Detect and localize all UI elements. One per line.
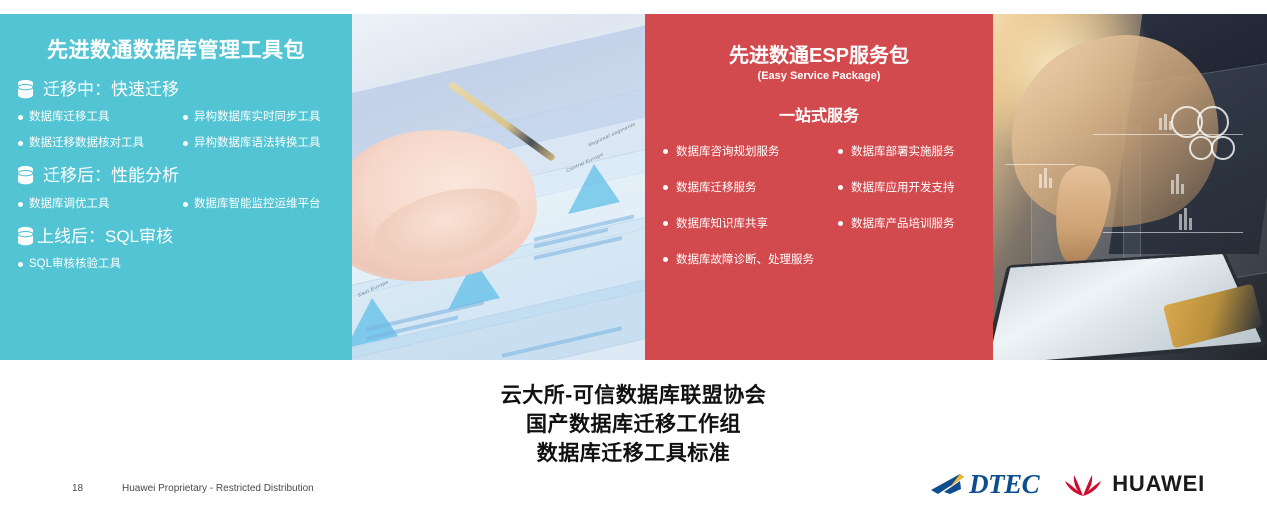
list-item: 数据迁移数据核对工具 — [18, 136, 183, 151]
confidentiality-note: Huawei Proprietary - Restricted Distribu… — [122, 483, 314, 494]
bullet-dot-icon — [183, 115, 188, 120]
list-item: 数据库迁移工具 — [18, 110, 183, 125]
list-item-label: 数据库咨询规划服务 — [676, 143, 780, 159]
left-bullet-grid-1: 数据库迁移工具 异构数据库实时同步工具 数据迁移数据核对工具 异构数据库语法转换… — [18, 110, 340, 151]
dtec-logo-text: DTEC — [969, 471, 1039, 498]
headline-line-3: 数据库迁移工具标准 — [0, 440, 1267, 469]
headline-line-2: 国产数据库迁移工作组 — [0, 411, 1267, 440]
list-item-label: 数据库知识库共享 — [676, 215, 768, 231]
middle-photo-analytics: Regional segments Central Europe West Eu… — [352, 14, 645, 360]
bullet-dot-icon — [838, 221, 843, 226]
list-item: 异构数据库实时同步工具 — [183, 110, 340, 125]
footer-logos: DTEC HUAWEI — [930, 470, 1205, 498]
database-icon — [16, 165, 35, 186]
photo-hud-line — [1005, 164, 1075, 165]
left-section-heading-3: 上线后：SQL审核 — [16, 226, 340, 247]
bullet-dot-icon — [18, 262, 23, 267]
photo-hud-bar — [1189, 218, 1192, 230]
photo-hud-bar — [1184, 208, 1187, 230]
photo-hud-bar — [1171, 180, 1174, 194]
right-photo-tablet — [993, 14, 1267, 360]
huawei-logo: HUAWEI — [1063, 470, 1205, 498]
left-bullet-grid-3: SQL审核核验工具 — [18, 257, 340, 272]
list-item-label: 数据迁移数据核对工具 — [29, 136, 144, 151]
headline-line-1: 云大所-可信数据库联盟协会 — [0, 382, 1267, 411]
list-item: 数据库调优工具 — [18, 197, 183, 212]
list-item: 数据库故障诊断、处理服务 — [663, 251, 983, 267]
list-item: 数据库部署实施服务 — [838, 143, 983, 159]
list-item-label: 数据库应用开发支持 — [851, 179, 955, 195]
bullet-dot-icon — [18, 115, 23, 120]
list-item: 数据库智能监控运维平台 — [183, 197, 340, 212]
list-item-label: 数据库产品培训服务 — [851, 215, 955, 231]
list-item: 异构数据库语法转换工具 — [183, 136, 340, 151]
right-section-heading: 一站式服务 — [655, 102, 983, 126]
list-item-label: 异构数据库语法转换工具 — [194, 136, 321, 151]
list-item-label: 数据库迁移工具 — [29, 110, 110, 125]
slide: 先进数通数据库管理工具包 迁移中：快速迁移 数据库迁移工具 异构数据库实时同步工… — [0, 0, 1267, 510]
list-item-label: 数据库智能监控运维平台 — [194, 197, 321, 212]
bullet-dot-icon — [663, 185, 668, 190]
photo-hud-line — [1093, 134, 1243, 135]
list-item: 数据库知识库共享 — [663, 215, 838, 231]
right-panel-subtitle: (Easy Service Package) — [655, 70, 983, 82]
photo-hud-bar — [1179, 214, 1182, 230]
photo-hud-bar — [1159, 118, 1162, 130]
left-bullet-grid-2: 数据库调优工具 数据库智能监控运维平台 — [18, 197, 340, 212]
page-number: 18 — [72, 483, 83, 494]
headline-block: 云大所-可信数据库联盟协会 国产数据库迁移工作组 数据库迁移工具标准 — [0, 382, 1267, 469]
photo-hud-bar — [1176, 174, 1179, 194]
photo-hud-bar — [1169, 121, 1172, 130]
right-panel-title: 先进数通ESP服务包 — [655, 44, 983, 68]
bullet-dot-icon — [183, 202, 188, 207]
bullet-dot-icon — [183, 141, 188, 146]
left-section-heading-2-text: 迁移后：性能分析 — [43, 165, 179, 186]
banner-strip: 先进数通数据库管理工具包 迁移中：快速迁移 数据库迁移工具 异构数据库实时同步工… — [0, 14, 1267, 360]
photo-hud-bar — [1049, 178, 1052, 188]
list-item: SQL审核核验工具 — [18, 257, 340, 272]
photo-hud-bar — [1039, 174, 1042, 188]
list-item-label: 异构数据库实时同步工具 — [194, 110, 321, 125]
list-item: 数据库迁移服务 — [663, 179, 838, 195]
photo-hud-bar — [1164, 114, 1167, 130]
right-panel-esp: 先进数通ESP服务包 (Easy Service Package) 一站式服务 … — [645, 14, 993, 360]
bullet-dot-icon — [838, 149, 843, 154]
huawei-flower-icon — [1063, 470, 1103, 498]
bullet-dot-icon — [18, 202, 23, 207]
list-item-label: SQL审核核验工具 — [29, 257, 121, 272]
database-icon — [16, 79, 35, 100]
bullet-dot-icon — [18, 141, 23, 146]
list-item: 数据库应用开发支持 — [838, 179, 983, 195]
photo-hud-bar — [1044, 168, 1047, 188]
list-item: 数据库产品培训服务 — [838, 215, 983, 231]
dtec-logo: DTEC — [930, 470, 1039, 498]
left-section-heading-3-text: 上线后：SQL审核 — [37, 226, 173, 247]
bullet-dot-icon — [838, 185, 843, 190]
list-item-label: 数据库调优工具 — [29, 197, 110, 212]
list-item-label: 数据库故障诊断、处理服务 — [676, 251, 814, 267]
left-section-heading-2: 迁移后：性能分析 — [16, 165, 340, 186]
list-item-label: 数据库迁移服务 — [676, 179, 757, 195]
photo-hud-line — [1103, 232, 1243, 233]
left-section-heading-1-text: 迁移中：快速迁移 — [43, 79, 179, 100]
left-panel-toolkit: 先进数通数据库管理工具包 迁移中：快速迁移 数据库迁移工具 异构数据库实时同步工… — [0, 14, 352, 360]
list-item: 数据库咨询规划服务 — [663, 143, 838, 159]
database-icon — [16, 226, 35, 247]
left-panel-title: 先进数通数据库管理工具包 — [12, 38, 340, 63]
photo-ring-icon — [1211, 136, 1235, 160]
photo-ring-icon — [1189, 136, 1213, 160]
photo-hud-bar — [1181, 184, 1184, 194]
dtec-arrow-icon — [930, 470, 968, 498]
right-bullet-grid: 数据库咨询规划服务 数据库部署实施服务 数据库迁移服务 数据库应用开发支持 数据… — [663, 143, 983, 267]
bullet-dot-icon — [663, 221, 668, 226]
bullet-dot-icon — [663, 257, 668, 262]
left-section-heading-1: 迁移中：快速迁移 — [16, 79, 340, 100]
bullet-dot-icon — [663, 149, 668, 154]
list-item-label: 数据库部署实施服务 — [851, 143, 955, 159]
huawei-logo-text: HUAWEI — [1112, 471, 1205, 497]
